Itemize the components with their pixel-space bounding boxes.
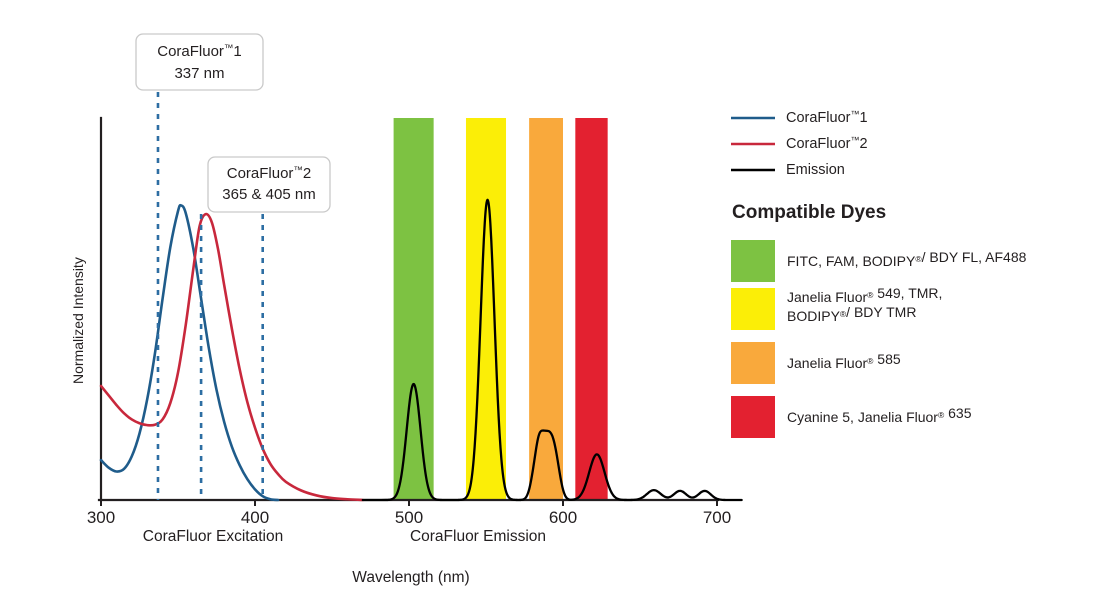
y-axis-label: Normalized Intensity bbox=[70, 257, 86, 384]
legend-label-2: Emission bbox=[786, 162, 845, 178]
dye-swatch-3 bbox=[731, 396, 775, 438]
x-tick-label: 500 bbox=[395, 508, 423, 527]
x-tick-label: 300 bbox=[87, 508, 115, 527]
spectra-figure: 300400500600700 CoraFluor™1 337 nm CoraF… bbox=[0, 0, 1110, 612]
excitation-region-label: CoraFluor Excitation bbox=[143, 528, 283, 545]
orange-band bbox=[529, 118, 563, 500]
callout-corafluor-2: CoraFluor™2 365 & 405 nm bbox=[208, 157, 330, 212]
x-tick-label: 700 bbox=[703, 508, 731, 527]
dye-swatch-1 bbox=[731, 288, 775, 330]
emission-region-label: CoraFluor Emission bbox=[410, 528, 546, 545]
callout-1-value: 337 nm bbox=[174, 65, 224, 82]
dye-swatch-0 bbox=[731, 240, 775, 282]
x-axis-label: Wavelength (nm) bbox=[352, 569, 469, 586]
callout-2-value: 365 & 405 nm bbox=[222, 186, 315, 203]
callout-corafluor-1: CoraFluor™1 337 nm bbox=[136, 34, 263, 90]
x-tick-label: 600 bbox=[549, 508, 577, 527]
compatible-dyes-heading: Compatible Dyes bbox=[732, 202, 886, 223]
green-band bbox=[394, 118, 434, 500]
dye-swatch-2 bbox=[731, 342, 775, 384]
x-tick-label: 400 bbox=[241, 508, 269, 527]
red-band bbox=[575, 118, 607, 500]
